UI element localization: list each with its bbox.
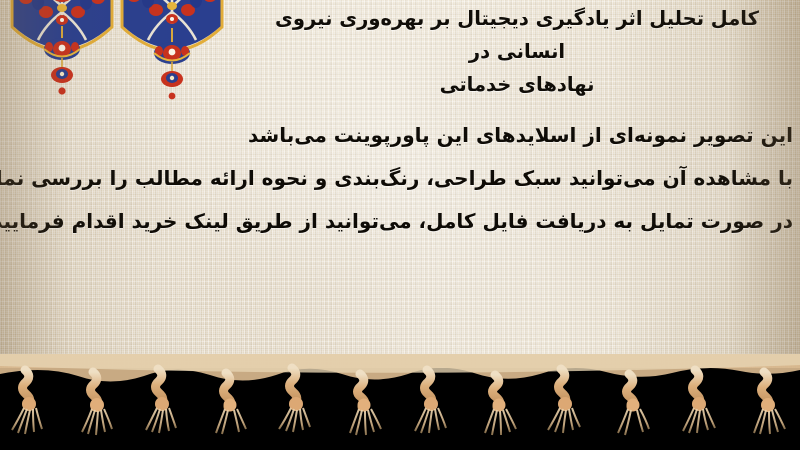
ornament-drop <box>169 93 176 100</box>
persian-tazhib-medallion-icon-2 <box>118 0 226 104</box>
carpet-tassel-fringe <box>0 354 800 450</box>
ornament-group <box>0 0 240 110</box>
ornament-drop <box>58 87 65 94</box>
ornament-pendant-small <box>51 58 73 83</box>
slide-title: کامل تحلیل اثر یادگیری دیجیتال بر بهره‌و… <box>240 2 794 101</box>
ornament-pendant-small <box>161 62 183 87</box>
slide-body-line-2: با مشاهده آن می‌توانید سبک طراحی، رنگ‌بن… <box>40 157 793 200</box>
slide-canvas: کامل تحلیل اثر یادگیری دیجیتال بر بهره‌و… <box>0 0 800 450</box>
slide-title-line-1: کامل تحلیل اثر یادگیری دیجیتال بر بهره‌و… <box>240 2 794 68</box>
persian-tazhib-medallion-icon <box>8 0 116 104</box>
slide-body-line-3: در صورت تمایل به دریافت فایل کامل، می‌تو… <box>40 200 793 243</box>
slide-title-line-2: نهادهای خدماتی <box>240 68 794 101</box>
slide-body: این تصویر نمونه‌ای از اسلایدهای این پاور… <box>40 114 793 243</box>
slide-body-line-1: این تصویر نمونه‌ای از اسلایدهای این پاور… <box>40 114 793 157</box>
